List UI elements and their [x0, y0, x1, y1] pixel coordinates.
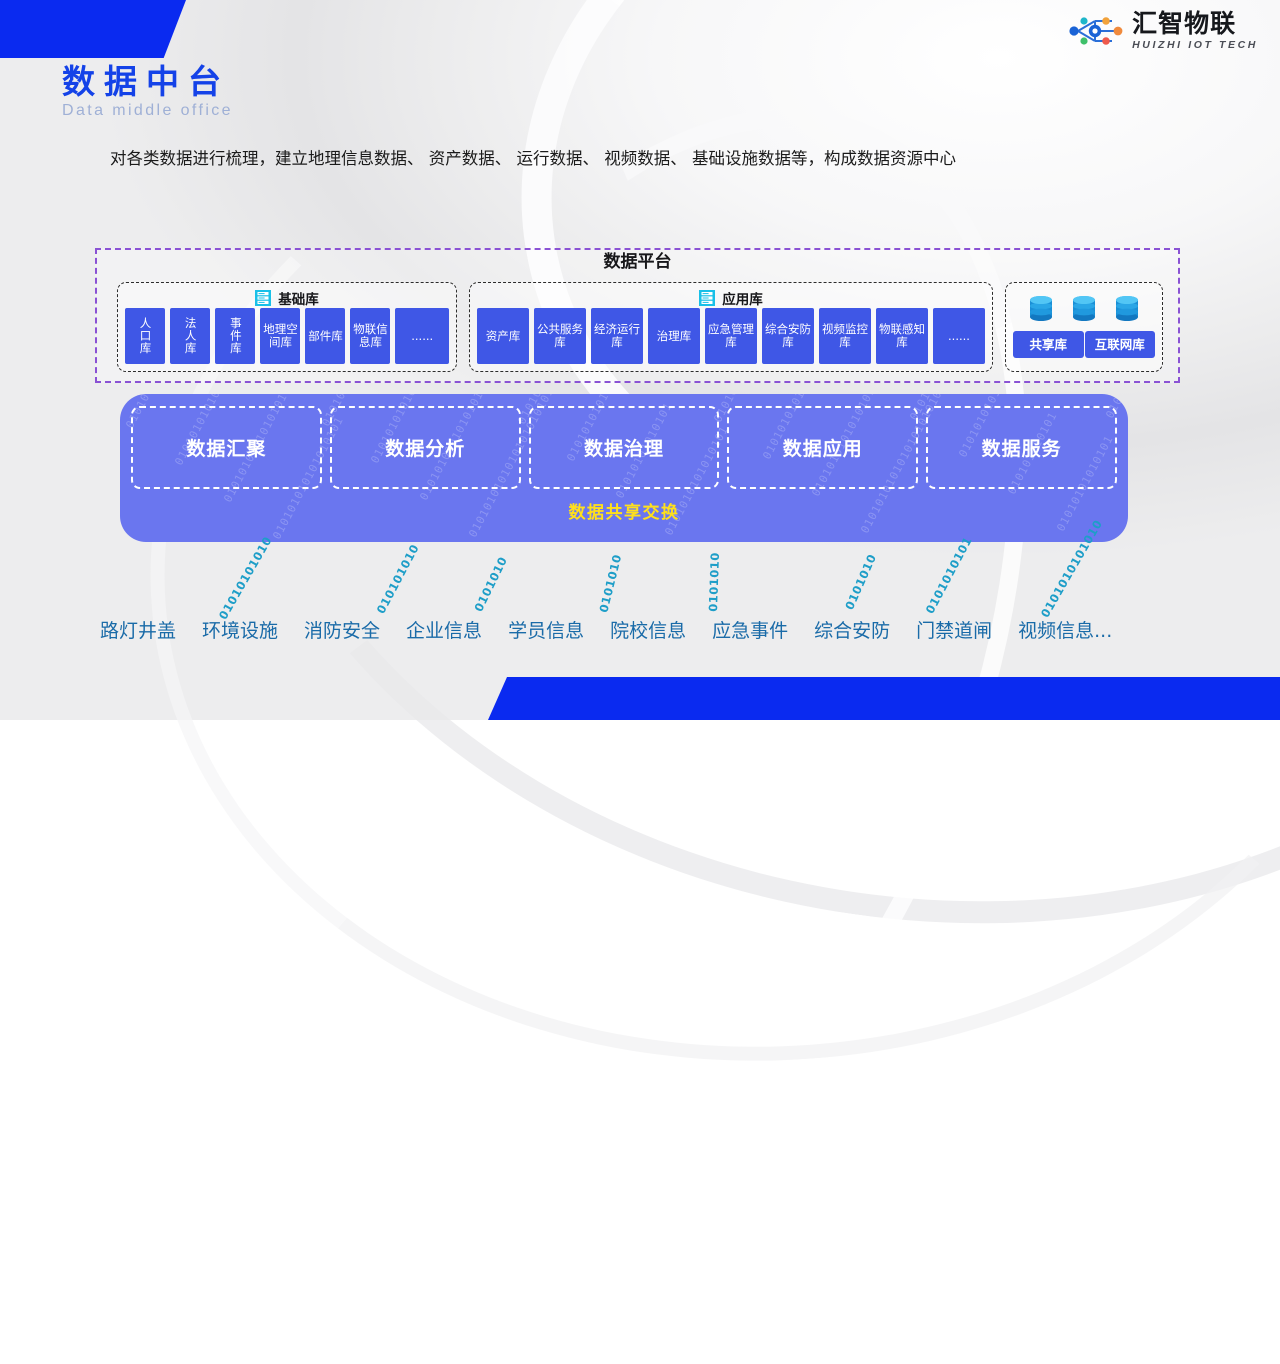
library-chip[interactable]: 公共服务库 [534, 308, 586, 364]
library-chip[interactable]: 人口库 [125, 308, 165, 364]
capability-card-row: 数据汇聚 数据分析 数据治理 数据应用 数据服务 [131, 406, 1117, 489]
library-chip[interactable]: 综合安防库 [762, 308, 814, 364]
database-cylinder-icon [1069, 294, 1099, 324]
basic-library-chips: 人口库 法人库 事件库 地理空间库 部件库 物联信息库 ...... [125, 308, 449, 364]
database-cylinder-group [1013, 287, 1155, 331]
data-sharing-exchange-label: 数据共享交换 [120, 498, 1128, 523]
page-title-en: Data middle office [62, 102, 233, 120]
database-cylinder-icon [1026, 294, 1056, 324]
source-tag[interactable]: 环境设施 [202, 616, 278, 643]
source-tag[interactable]: 学员信息 [508, 616, 584, 643]
library-chip[interactable]: 地理空间库 [260, 308, 300, 364]
capability-card-data-aggregation[interactable]: 数据汇聚 [131, 406, 322, 489]
source-tag[interactable]: 综合安防 [814, 616, 890, 643]
library-chip-ellipsis[interactable]: ...... [395, 308, 449, 364]
library-chip[interactable]: 事件库 [215, 308, 255, 364]
page-title-cn: 数据中台 [62, 64, 233, 100]
source-tag[interactable]: 应急事件 [712, 616, 788, 643]
source-tag[interactable]: 企业信息 [406, 616, 482, 643]
extra-library-card[interactable]: 共享库 互联网库 [1005, 282, 1163, 372]
application-library-label: 应用库 [722, 288, 763, 308]
basic-library-header: 基础库 [125, 287, 449, 308]
library-chip[interactable]: 资产库 [477, 308, 529, 364]
source-tag[interactable]: 院校信息 [610, 616, 686, 643]
top-left-accent-shape [0, 0, 186, 58]
extra-library-chips: 共享库 互联网库 [1013, 331, 1155, 358]
company-logo: 汇智物联 HUIZHI IOT TECH [1068, 10, 1258, 52]
logo-name-en: HUIZHI IOT TECH [1132, 40, 1258, 51]
logo-name-cn: 汇智物联 [1132, 11, 1236, 36]
data-platform-container: 数据平台 基础库 人口库 [95, 248, 1180, 383]
library-chip-ellipsis[interactable]: ...... [933, 308, 985, 364]
capability-card-data-analysis[interactable]: 数据分析 [330, 406, 521, 489]
molecule-network-icon [1068, 10, 1124, 52]
logo-text-block: 汇智物联 HUIZHI IOT TECH [1132, 11, 1258, 51]
library-chip[interactable]: 视频监控库 [819, 308, 871, 364]
library-chip[interactable]: 物联感知库 [876, 308, 928, 364]
database-cylinder-icon [1112, 294, 1142, 324]
library-chip[interactable]: 治理库 [648, 308, 700, 364]
library-chip[interactable]: 部件库 [305, 308, 345, 364]
library-chip[interactable]: 物联信息库 [350, 308, 390, 364]
capability-card-data-service[interactable]: 数据服务 [926, 406, 1117, 489]
intro-paragraph: 对各类数据进行梳理，建立地理信息数据、 资产数据、 运行数据、 视频数据、 基础… [110, 138, 1180, 180]
database-stack-icon [699, 290, 715, 306]
application-library-chips: 资产库 公共服务库 经济运行库 治理库 应急管理库 综合安防库 视频监控库 物联… [477, 308, 985, 364]
capability-card-data-governance[interactable]: 数据治理 [529, 406, 720, 489]
page-title: 数据中台 Data middle office [62, 64, 233, 120]
library-row: 基础库 人口库 法人库 事件库 地理空间库 部件库 物联信息库 ...... [117, 282, 1163, 372]
basic-library-label: 基础库 [278, 288, 319, 308]
library-chip[interactable]: 法人库 [170, 308, 210, 364]
database-stack-icon [255, 290, 271, 306]
source-tag[interactable]: 视频信息... [1018, 616, 1112, 643]
library-chip[interactable]: 应急管理库 [705, 308, 757, 364]
application-library-header: 应用库 [477, 287, 985, 308]
capability-card-data-application[interactable]: 数据应用 [727, 406, 918, 489]
basic-library-card[interactable]: 基础库 人口库 法人库 事件库 地理空间库 部件库 物联信息库 ...... [117, 282, 457, 372]
application-library-card[interactable]: 应用库 资产库 公共服务库 经济运行库 治理库 应急管理库 综合安防库 视频监控… [469, 282, 993, 372]
bottom-right-accent-shape [488, 677, 1280, 720]
data-platform-title: 数据平台 [97, 247, 1178, 272]
library-chip[interactable]: 经济运行库 [591, 308, 643, 364]
source-tag[interactable]: 消防安全 [304, 616, 380, 643]
capability-band: 0101010101010101010101010101010101010101… [120, 394, 1128, 542]
source-tag-row: 路灯井盖 环境设施 消防安全 企业信息 学员信息 院校信息 应急事件 综合安防 … [100, 616, 1190, 643]
library-chip[interactable]: 共享库 [1013, 331, 1084, 358]
source-tag[interactable]: 路灯井盖 [100, 616, 176, 643]
binary-stream-group: 0101010101001010101001010100101010010101… [0, 540, 1280, 618]
library-chip[interactable]: 互联网库 [1085, 331, 1156, 358]
slide-canvas: 汇智物联 HUIZHI IOT TECH 数据中台 Data middle of… [0, 0, 1280, 720]
source-tag[interactable]: 门禁道闸 [916, 616, 992, 643]
